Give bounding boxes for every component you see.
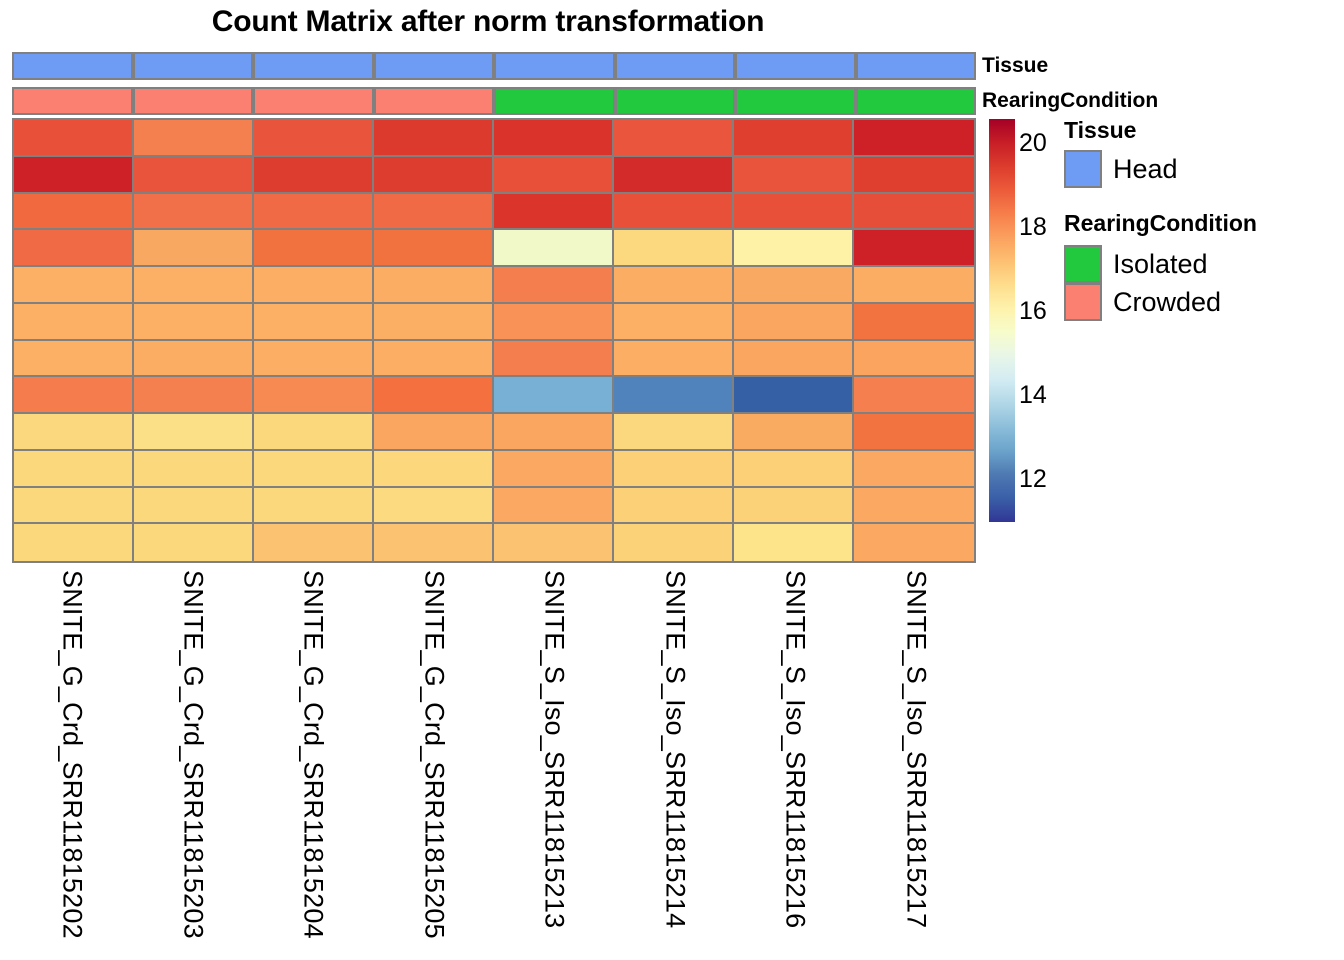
heatmap-cell xyxy=(134,120,254,157)
column-label: SNITE_S_Iso_SRR11815214 xyxy=(661,570,688,928)
heatmap-cell xyxy=(854,414,974,451)
heatmap-cell xyxy=(614,414,734,451)
heatmap-cell xyxy=(854,488,974,525)
column-axis-labels: SNITE_G_Crd_SRR11815202SNITE_G_Crd_SRR11… xyxy=(12,566,976,958)
heatmap-cell xyxy=(614,488,734,525)
heatmap-cell xyxy=(734,414,854,451)
heatmap-cell xyxy=(254,341,374,378)
legend-label-crowded: Crowded xyxy=(1113,289,1221,316)
colorbar xyxy=(989,119,1015,522)
heatmap-cell xyxy=(374,488,494,525)
heatmap-cell xyxy=(374,267,494,304)
legend-swatch-head xyxy=(1064,150,1102,188)
heatmap-cell xyxy=(494,267,614,304)
annotation-tissue-cell xyxy=(12,52,133,80)
column-label: SNITE_G_Crd_SRR11815205 xyxy=(420,570,447,939)
legend-item-isolated: Isolated xyxy=(1064,245,1208,283)
heatmap-cell xyxy=(494,304,614,341)
heatmap-cell xyxy=(14,488,134,525)
legend-item-crowded: Crowded xyxy=(1064,283,1221,321)
legend-title-rearing-condition: RearingCondition xyxy=(1064,210,1257,236)
heatmap-cell xyxy=(374,230,494,267)
heatmap-cell xyxy=(494,414,614,451)
heatmap-cell xyxy=(14,524,134,561)
annotation-tissue-cell xyxy=(615,52,736,80)
heatmap-cell xyxy=(854,524,974,561)
heatmap-cell xyxy=(14,304,134,341)
heatmap-cell xyxy=(254,304,374,341)
heatmap-cell xyxy=(374,194,494,231)
legend-label-isolated: Isolated xyxy=(1113,251,1208,278)
heatmap-cell xyxy=(614,304,734,341)
annotation-bar-tissue xyxy=(12,52,976,80)
heatmap-cell xyxy=(254,230,374,267)
heatmap-grid xyxy=(12,118,976,563)
heatmap-cell xyxy=(734,157,854,194)
heatmap-cell xyxy=(134,267,254,304)
heatmap-cell xyxy=(734,230,854,267)
heatmap-cell xyxy=(614,194,734,231)
heatmap-cell xyxy=(494,157,614,194)
heatmap-cell xyxy=(14,377,134,414)
heatmap-cell xyxy=(14,451,134,488)
column-label: SNITE_S_Iso_SRR11815213 xyxy=(541,570,568,928)
heatmap-cell xyxy=(14,157,134,194)
annotation-rearing-cell xyxy=(133,87,254,115)
heatmap-cell xyxy=(134,488,254,525)
heatmap-cell xyxy=(134,157,254,194)
heatmap-cell xyxy=(374,414,494,451)
heatmap-cell xyxy=(734,120,854,157)
heatmap-cell xyxy=(734,267,854,304)
heatmap-cell xyxy=(854,194,974,231)
legend-title-tissue: Tissue xyxy=(1064,117,1136,143)
colorbar-tick-label: 20 xyxy=(1019,131,1047,156)
legend-item-head: Head xyxy=(1064,150,1178,188)
heatmap-cell xyxy=(254,267,374,304)
column-label-slot: SNITE_S_Iso_SRR11815213 xyxy=(494,566,615,958)
heatmap-cell xyxy=(614,157,734,194)
column-label-slot: SNITE_S_Iso_SRR11815216 xyxy=(735,566,856,958)
annotation-rearing-cell xyxy=(494,87,615,115)
heatmap-cell xyxy=(854,377,974,414)
heatmap-cell xyxy=(734,377,854,414)
legend-label-head: Head xyxy=(1113,156,1178,183)
heatmap-cell xyxy=(14,194,134,231)
annotation-rearing-cell xyxy=(374,87,495,115)
column-label-slot: SNITE_G_Crd_SRR11815204 xyxy=(253,566,374,958)
colorbar-tick-label: 12 xyxy=(1019,467,1047,492)
annotation-tissue-cell xyxy=(374,52,495,80)
annotation-tissue-cell xyxy=(735,52,856,80)
annotation-rearing-cell xyxy=(12,87,133,115)
heatmap-cell xyxy=(14,230,134,267)
heatmap-cell xyxy=(734,194,854,231)
heatmap-cell xyxy=(854,267,974,304)
heatmap-figure: Count Matrix after norm transformation T… xyxy=(0,0,1344,960)
heatmap-cell xyxy=(134,230,254,267)
heatmap-cell xyxy=(854,120,974,157)
column-label-slot: SNITE_G_Crd_SRR11815205 xyxy=(374,566,495,958)
heatmap-cell xyxy=(134,194,254,231)
heatmap-cell xyxy=(494,488,614,525)
annotation-rearing-cell xyxy=(735,87,856,115)
heatmap-cell xyxy=(134,524,254,561)
heatmap-cell xyxy=(494,451,614,488)
annotation-tissue-cell xyxy=(253,52,374,80)
heatmap-cell xyxy=(614,120,734,157)
column-label-slot: SNITE_S_Iso_SRR11815214 xyxy=(615,566,736,958)
heatmap-cell xyxy=(854,451,974,488)
heatmap-cell xyxy=(734,341,854,378)
heatmap-cell xyxy=(734,304,854,341)
legend-swatch-isolated xyxy=(1064,245,1102,283)
legend-swatch-crowded xyxy=(1064,283,1102,321)
heatmap-cell xyxy=(734,524,854,561)
heatmap-cell xyxy=(14,120,134,157)
heatmap-cell xyxy=(134,341,254,378)
heatmap-cell xyxy=(854,230,974,267)
heatmap-cell xyxy=(614,524,734,561)
heatmap-cell xyxy=(374,341,494,378)
colorbar-tick-label: 14 xyxy=(1019,383,1047,408)
heatmap-cell xyxy=(374,451,494,488)
page-title: Count Matrix after norm transformation xyxy=(0,2,976,42)
heatmap-cell xyxy=(494,194,614,231)
heatmap-cell xyxy=(254,451,374,488)
column-label: SNITE_G_Crd_SRR11815203 xyxy=(179,570,206,939)
heatmap-cell xyxy=(614,267,734,304)
heatmap-cell xyxy=(254,414,374,451)
heatmap-cell xyxy=(494,524,614,561)
heatmap-cell xyxy=(494,377,614,414)
heatmap-cell xyxy=(254,194,374,231)
heatmap-cell xyxy=(374,524,494,561)
colorbar-tick-label: 16 xyxy=(1019,299,1047,324)
heatmap-cell xyxy=(614,377,734,414)
heatmap-cell xyxy=(254,524,374,561)
heatmap-cell xyxy=(614,230,734,267)
heatmap-cell xyxy=(14,341,134,378)
heatmap-cell xyxy=(734,488,854,525)
heatmap-cell xyxy=(134,414,254,451)
annotation-tissue-cell xyxy=(856,52,977,80)
heatmap-cell xyxy=(14,414,134,451)
heatmap-cell xyxy=(254,377,374,414)
annotation-label-tissue: Tissue xyxy=(982,52,1048,80)
heatmap-cell xyxy=(374,304,494,341)
heatmap-cell xyxy=(614,451,734,488)
heatmap-cell xyxy=(494,120,614,157)
heatmap-cell xyxy=(134,304,254,341)
column-label: SNITE_G_Crd_SRR11815202 xyxy=(59,570,86,939)
heatmap-cell xyxy=(854,157,974,194)
column-label: SNITE_S_Iso_SRR11815216 xyxy=(782,570,809,928)
column-label-slot: SNITE_G_Crd_SRR11815202 xyxy=(12,566,133,958)
annotation-tissue-cell xyxy=(494,52,615,80)
annotation-bar-rearing-condition xyxy=(12,87,976,115)
annotation-rearing-cell xyxy=(856,87,977,115)
column-label: SNITE_G_Crd_SRR11815204 xyxy=(300,570,327,939)
heatmap-cell xyxy=(854,341,974,378)
column-label-slot: SNITE_S_Iso_SRR11815217 xyxy=(856,566,977,958)
heatmap-cell xyxy=(734,451,854,488)
heatmap-cell xyxy=(854,304,974,341)
column-label: SNITE_S_Iso_SRR11815217 xyxy=(902,570,929,928)
colorbar-gradient xyxy=(989,119,1015,522)
annotation-tissue-cell xyxy=(133,52,254,80)
annotation-rearing-cell xyxy=(253,87,374,115)
heatmap-cell xyxy=(134,377,254,414)
heatmap-cell xyxy=(254,488,374,525)
heatmap-cell xyxy=(614,341,734,378)
heatmap-cell xyxy=(14,267,134,304)
heatmap-cell xyxy=(254,120,374,157)
heatmap-cell xyxy=(134,451,254,488)
heatmap-cell xyxy=(254,157,374,194)
column-label-slot: SNITE_G_Crd_SRR11815203 xyxy=(133,566,254,958)
colorbar-tick-label: 18 xyxy=(1019,215,1047,240)
heatmap-cell xyxy=(374,120,494,157)
heatmap-cell xyxy=(494,230,614,267)
annotation-label-rearing-condition: RearingCondition xyxy=(982,87,1158,115)
heatmap-cell xyxy=(374,157,494,194)
heatmap-cell xyxy=(374,377,494,414)
annotation-rearing-cell xyxy=(615,87,736,115)
heatmap-cell xyxy=(494,341,614,378)
